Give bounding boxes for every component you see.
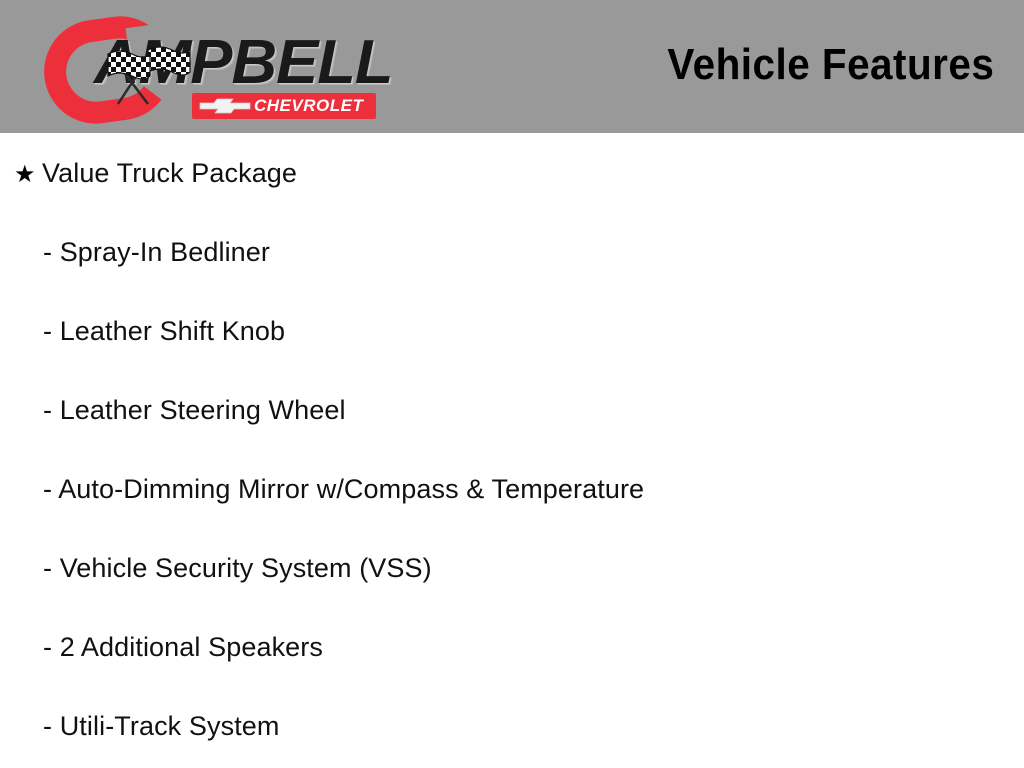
list-item-label: Value Truck Package: [42, 155, 297, 191]
list-item-label: - Leather Shift Knob: [43, 316, 285, 346]
dealer-logo: AMPBELL CHEVROLET: [36, 14, 386, 124]
list-item: ★ Value Truck Package: [14, 155, 297, 193]
list-item: - Leather Steering Wheel: [43, 392, 346, 428]
page-title: Vehicle Features: [667, 39, 994, 91]
chevrolet-banner-text: CHEVROLET: [254, 97, 363, 115]
chevrolet-bowtie-icon: [198, 97, 252, 115]
star-bullet-icon: ★: [14, 157, 42, 193]
list-item-label: - Spray-In Bedliner: [43, 237, 270, 267]
slide-content: ★ Value Truck Package - Spray-In Bedline…: [0, 133, 1024, 768]
list-item-label: - 2 Additional Speakers: [43, 632, 323, 662]
list-item-label: - Leather Steering Wheel: [43, 395, 346, 425]
list-item: - 2 Additional Speakers: [43, 629, 323, 665]
list-item: - Vehicle Security System (VSS): [43, 550, 432, 586]
list-item-label: - Utili-Track System: [43, 711, 280, 741]
list-item: - Auto-Dimming Mirror w/Compass & Temper…: [43, 471, 644, 507]
list-item: - Spray-In Bedliner: [43, 234, 270, 270]
chevrolet-banner: CHEVROLET: [192, 93, 376, 119]
slide-canvas: AMPBELL CHEVROLET: [0, 0, 1024, 768]
list-item-label: - Auto-Dimming Mirror w/Compass & Temper…: [43, 474, 644, 504]
checkered-flags-icon: [96, 42, 192, 106]
list-item-label: - Vehicle Security System (VSS): [43, 553, 432, 583]
list-item: - Leather Shift Knob: [43, 313, 285, 349]
list-item: - Utili-Track System: [43, 708, 280, 744]
